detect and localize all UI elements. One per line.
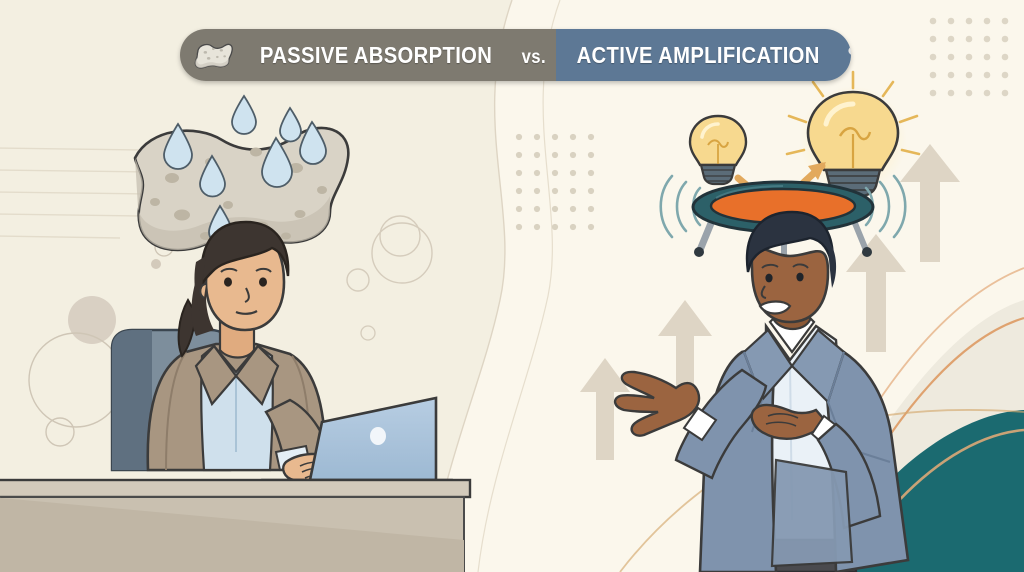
trampoline-icon [846,38,851,72]
desk-top [0,480,470,497]
sponge-icon [194,38,234,72]
filled-circle-decor [68,296,116,344]
illustration-layer [0,0,1024,572]
infographic-canvas: PASSIVE ABSORPTION vs. ACTIVE AMPLIFICAT… [0,0,1024,572]
bubble-decor-6 [151,259,161,269]
man-mouth-open [760,302,790,314]
banner-left-label: PASSIVE ABSORPTION [260,44,492,67]
man-eye-left [765,274,772,283]
banner-right-label: ACTIVE AMPLIFICATION [576,44,819,67]
man-blazer-front-panel [772,460,852,566]
title-banner[interactable]: PASSIVE ABSORPTION vs. ACTIVE AMPLIFICAT… [180,29,851,81]
desk [0,480,470,572]
man-eye-right [796,273,803,282]
banner-vs-label: vs. [522,48,546,67]
woman-eye-right [259,277,267,286]
woman-eye-left [224,277,232,286]
chair-back-shadow [112,330,152,470]
laptop-logo [370,427,386,445]
